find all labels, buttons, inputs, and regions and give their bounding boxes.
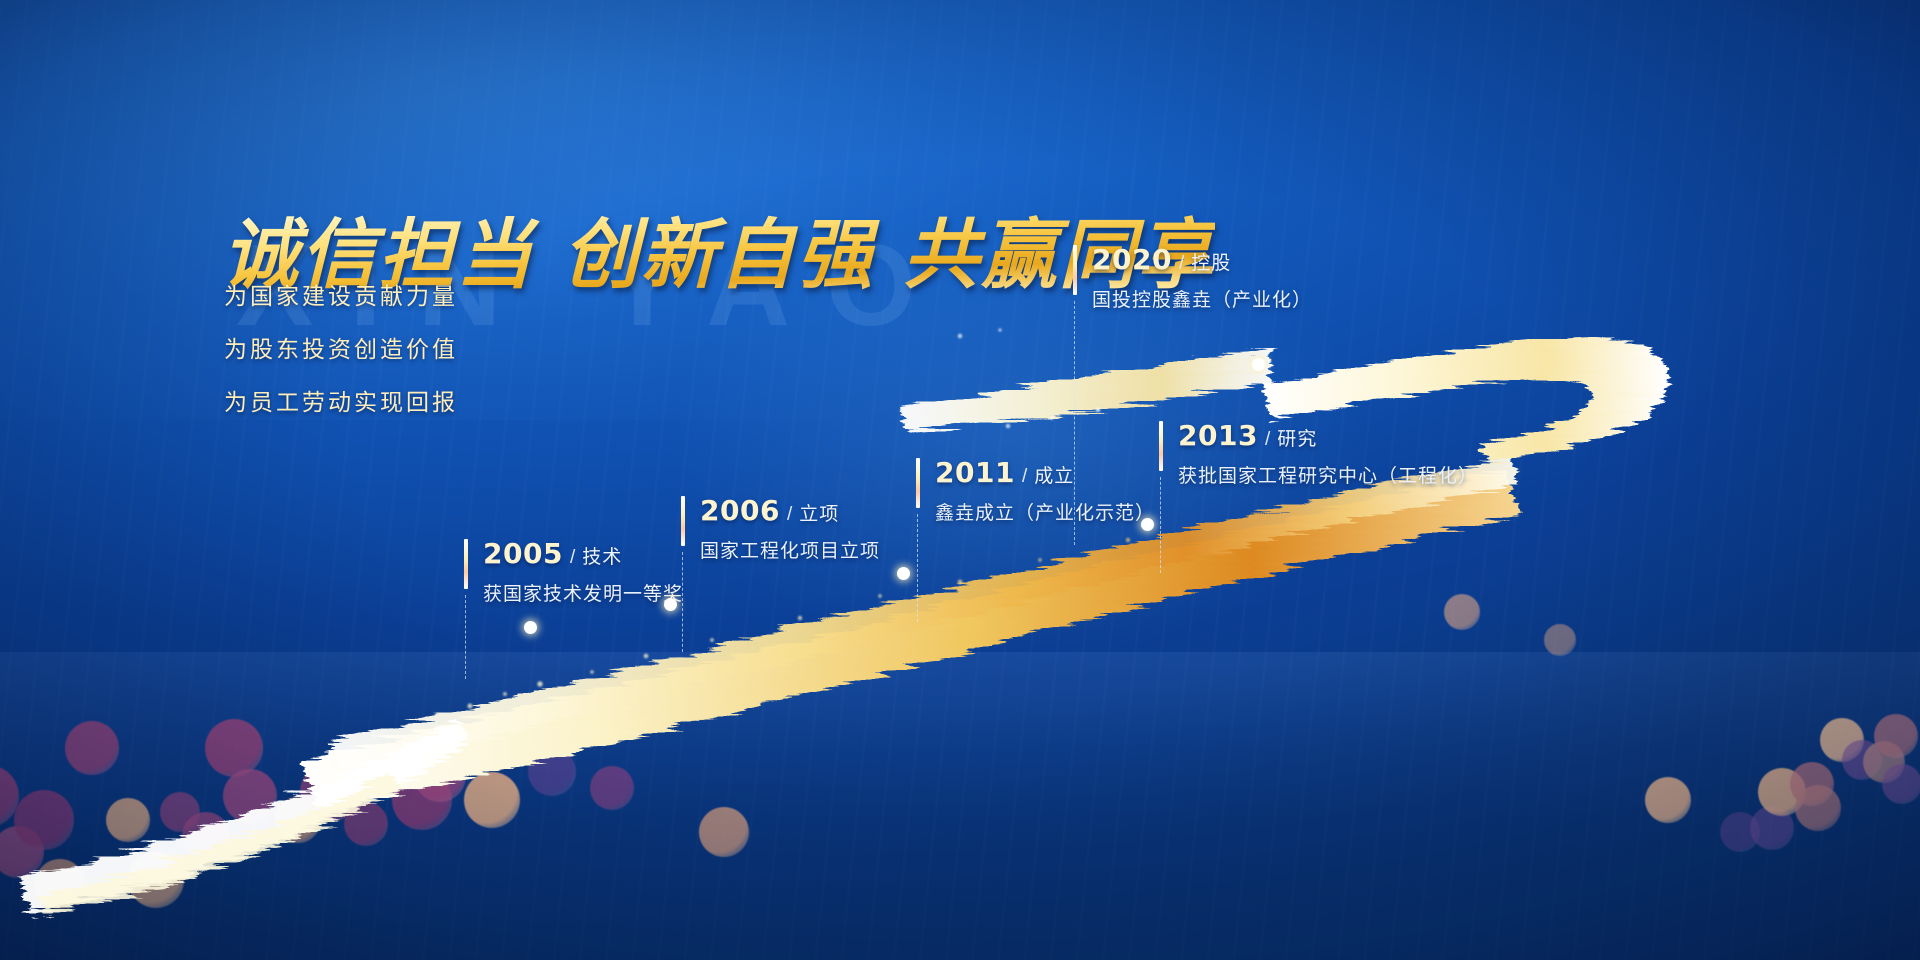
milestone-year: 2005	[483, 537, 563, 570]
milestone-year-row: 2005/技术	[483, 537, 683, 570]
milestone-leader-line	[682, 552, 683, 652]
tagline-line: 为员工劳动实现回报	[224, 392, 458, 415]
milestone-description: 国投控股鑫垚（产业化）	[1092, 285, 1312, 312]
milestone-accent-bar	[916, 458, 920, 508]
milestone-tag: 立项	[799, 499, 839, 526]
milestone-leader-line	[465, 595, 466, 679]
tagline-line: 为股东投资创造价值	[224, 339, 458, 362]
milestone-text: 2013/研究获批国家工程研究中心（工程化）	[1178, 419, 1478, 488]
milestone-accent-bar	[464, 539, 468, 589]
milestone-year: 2020	[1092, 243, 1172, 276]
milestone-year-row: 2013/研究	[1178, 419, 1478, 452]
tagline-line: 为国家建设贡献力量	[224, 286, 458, 309]
milestone-separator: /	[1022, 466, 1027, 488]
milestone-accent-bar	[1073, 245, 1077, 295]
milestone-text: 2006/立项国家工程化项目立项	[700, 494, 880, 563]
milestone-accent-bar	[1159, 421, 1163, 471]
milestone-text: 2005/技术获国家技术发明一等奖	[483, 537, 683, 606]
milestone-year: 2013	[1178, 419, 1258, 452]
milestone-description: 国家工程化项目立项	[700, 536, 880, 563]
milestone-separator: /	[1179, 253, 1184, 275]
milestone-dot[interactable]	[1252, 358, 1265, 371]
milestone-dot[interactable]	[897, 567, 910, 580]
milestone-year: 2011	[935, 456, 1015, 489]
milestone-year-row: 2020/控股	[1092, 243, 1312, 276]
milestone-description: 获国家技术发明一等奖	[483, 579, 683, 606]
milestone-dot[interactable]	[664, 598, 677, 611]
milestone-year-row: 2006/立项	[700, 494, 880, 527]
banner-stage: XIN YAO 诚信担当 创新自强 共赢同享 为国家建设贡献力量为股东投资创造价…	[0, 0, 1920, 960]
milestone-leader-line	[1074, 301, 1075, 545]
milestone-year-row: 2011/成立	[935, 456, 1155, 489]
milestone-tag: 研究	[1277, 424, 1317, 451]
milestone-leader-line	[1160, 477, 1161, 573]
milestone-tag: 控股	[1191, 248, 1231, 275]
milestone-tag: 成立	[1034, 461, 1074, 488]
milestone-dot[interactable]	[1141, 518, 1154, 531]
milestone-separator: /	[787, 504, 792, 526]
milestone-dot[interactable]	[524, 621, 537, 634]
milestone-accent-bar	[681, 496, 685, 546]
milestone-text: 2011/成立鑫垚成立（产业化示范）	[935, 456, 1155, 525]
milestone-description: 获批国家工程研究中心（工程化）	[1178, 461, 1478, 488]
tagline-list: 为国家建设贡献力量为股东投资创造价值为员工劳动实现回报	[224, 286, 458, 445]
milestone-year: 2006	[700, 494, 780, 527]
milestone-separator: /	[570, 547, 575, 569]
milestone-separator: /	[1265, 429, 1270, 451]
milestone-leader-line	[917, 514, 918, 622]
milestone-description: 鑫垚成立（产业化示范）	[935, 498, 1155, 525]
milestone-tag: 技术	[582, 542, 622, 569]
milestone-text: 2020/控股国投控股鑫垚（产业化）	[1092, 243, 1312, 312]
